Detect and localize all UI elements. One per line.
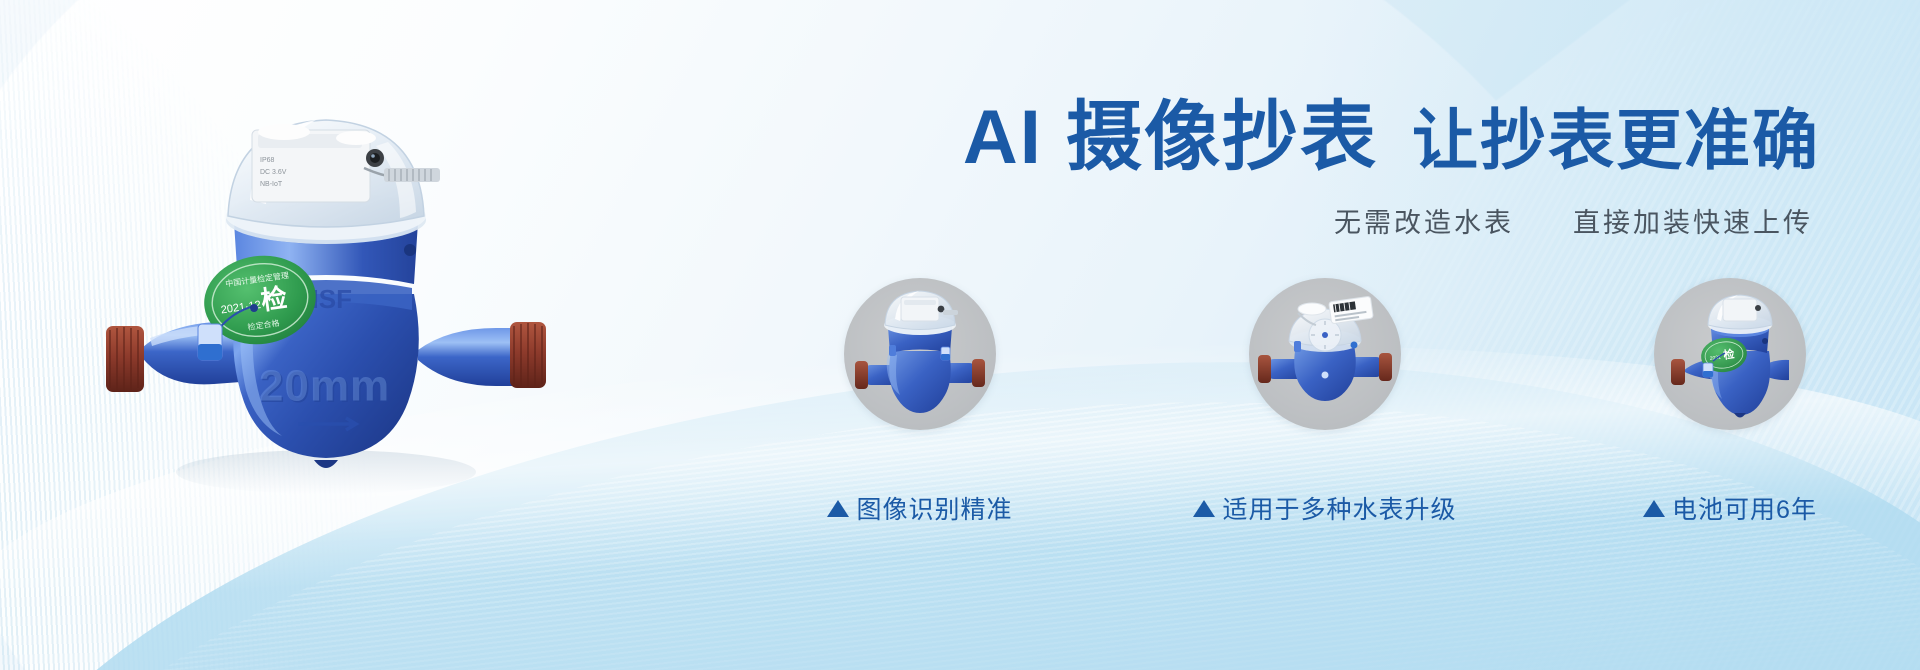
feature-caption-text-3: 电池可用6年 <box>1672 490 1817 526</box>
subheadline: 无需改造水表 直接加装快速上传 <box>575 201 1865 240</box>
promo-banner: 20mm 20mm NSF IP68 <box>0 0 1920 670</box>
water-meter-green-sticker-icon: 检 2021 <box>1655 279 1805 429</box>
subheadline-part-1: 无需改造水表 <box>1334 208 1514 238</box>
subheadline-part-2: 直接加装快速上传 <box>1573 208 1813 238</box>
feature-caption-3: 电池可用6年 <box>1580 490 1880 526</box>
feature-caption-2: 适用于多种水表升级 <box>1175 490 1475 526</box>
svg-text:检: 检 <box>1723 347 1736 362</box>
feature-caption-text-2: 适用于多种水表升级 <box>1222 490 1456 526</box>
feature-item-image-recognition[interactable]: 图像识别精准 <box>770 278 1070 526</box>
copy-block: AI 摄像抄表 让抄表更准确 无需改造水表 直接加装快速上传 <box>575 98 1865 240</box>
water-meter-illustration: 20mm 20mm NSF IP68 <box>88 72 558 502</box>
headline-main: AI 摄像抄表 <box>963 98 1378 179</box>
svg-text:NB-IoT: NB-IoT <box>260 181 283 188</box>
headline-sub: 让抄表更准确 <box>1412 106 1820 176</box>
headline: AI 摄像抄表 让抄表更准确 <box>575 98 1865 179</box>
triangle-bullet-icon <box>827 500 849 517</box>
feature-list: 图像识别精准 <box>770 278 1880 526</box>
feature-item-multi-meter-upgrade[interactable]: 适用于多种水表升级 <box>1175 278 1475 526</box>
feature-item-battery-life[interactable]: 检 2021 电池可用6年 <box>1580 278 1880 526</box>
svg-text:DC 3.6V: DC 3.6V <box>260 169 287 176</box>
water-meter-label-top-icon <box>1250 279 1400 429</box>
hero-product-image: 20mm 20mm NSF IP68 <box>88 72 558 502</box>
svg-text:检: 检 <box>259 282 289 315</box>
feature-caption-text-1: 图像识别精准 <box>856 490 1012 526</box>
feature-thumbnail-3[interactable]: 检 2021 <box>1654 278 1806 430</box>
feature-thumbnail-2[interactable] <box>1249 278 1401 430</box>
triangle-bullet-icon <box>1643 500 1665 517</box>
feature-thumbnail-1[interactable] <box>844 278 996 430</box>
svg-text:20mm: 20mm <box>259 362 390 411</box>
triangle-bullet-icon <box>1193 500 1215 517</box>
feature-caption-1: 图像识别精准 <box>770 490 1070 526</box>
svg-text:IP68: IP68 <box>260 157 275 164</box>
water-meter-clear-dome-icon <box>845 279 995 429</box>
